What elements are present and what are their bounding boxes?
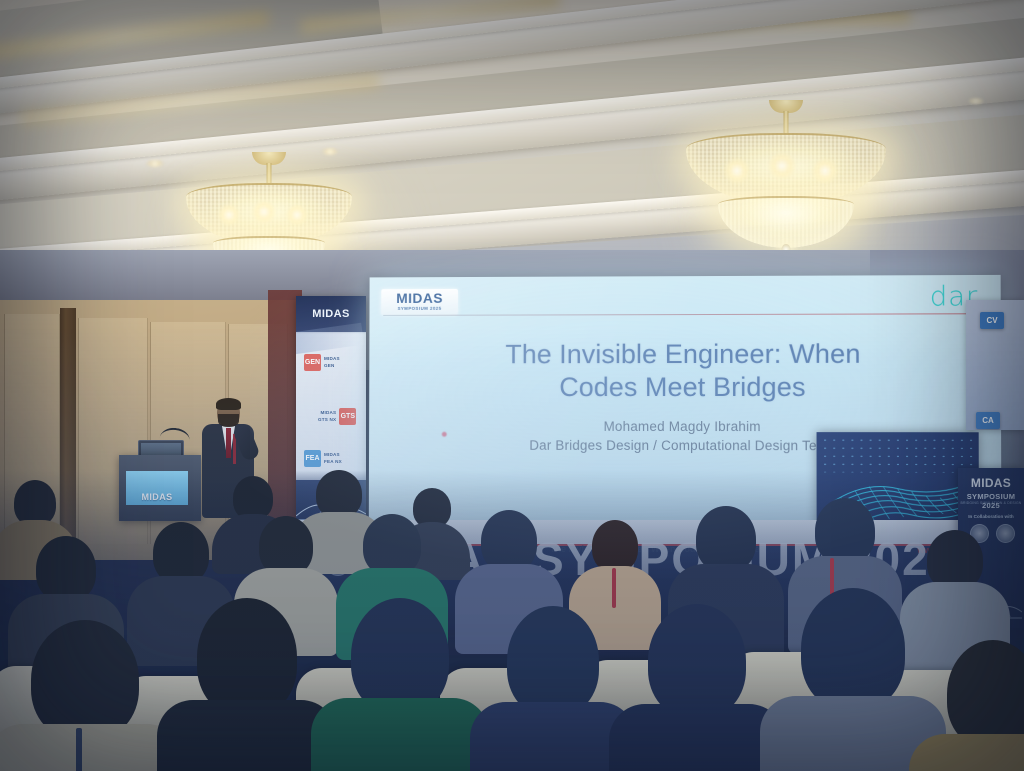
chandelier-bulb [252,200,276,224]
chandelier-right [686,100,886,260]
audience-lanyard [612,568,616,608]
audience-member-front [928,640,1024,771]
presenter-hair [216,398,241,410]
chandelier-bulb [768,152,796,180]
slide-title-line2: Codes Meet Bridges [369,371,1001,404]
audience-member-front [10,620,160,771]
banner-left-brand: MIDAS [312,308,349,320]
chandelier-bulb [724,158,750,184]
chip-ca: CA [976,412,1000,429]
audience-torso [311,698,489,771]
presenter-beard [218,414,239,427]
audience-torso [909,734,1024,771]
slide-logo-midas-text: MIDAS [396,291,443,305]
chip-fea: FEA [304,450,321,467]
banner-right-products: CV CA [966,300,1024,430]
audience-head [363,514,421,576]
audience-head [927,530,983,590]
audience-head [947,640,1024,748]
audience-head [801,588,905,710]
slide-logo-midas-sub: SYMPOSIUM 2025 [398,305,442,312]
audience-head [259,516,313,576]
slide-logo-midas: MIDAS SYMPOSIUM 2025 [381,289,458,315]
chandelier-bulb [812,158,838,184]
audience-head [31,620,139,740]
audience-torso [157,700,337,771]
audience-torso [0,724,183,771]
product-label-fea: MIDAS FEA NX [324,452,342,464]
audience-head [36,536,96,602]
product-badge-gen: GEN MIDAS GEN [304,354,340,371]
chandelier-rod [784,111,789,135]
slide-accent-dot-icon [442,432,447,437]
audience-member-front [488,606,618,771]
audience-head [197,598,297,716]
audience-head [507,606,599,716]
audience-head [351,598,449,714]
product-label-gts: MIDAS GTS NX [318,410,336,422]
chip-gts: GTS [339,408,356,425]
slide-title: The Invisible Engineer: When Codes Meet … [369,337,1001,403]
recessed-downlight [968,98,984,104]
presenter-tie [226,428,231,458]
slide-title-line1: The Invisible Engineer: When [369,337,1001,371]
audience-head [815,498,875,564]
audience-member-front [330,598,470,771]
conference-photo: MIDAS GEN MIDAS GEN MIDAS GTS NX GTS FEA… [0,0,1024,771]
audience-head [592,520,638,572]
audience-area [0,470,1024,771]
chandelier-bulb [218,204,240,226]
audience-head [481,510,537,572]
slide-divider [383,313,990,316]
chip-gen: GEN [304,354,321,371]
chandelier-rod [267,163,272,185]
audience-torso [609,704,785,771]
audience-member-front [780,588,926,771]
chandelier-bulb [286,204,308,226]
audience-head [696,506,756,572]
audience-head [648,604,746,718]
product-badge-gts: MIDAS GTS NX GTS [318,408,356,425]
chandelier-lower-tier [718,196,854,248]
audience-member-front [176,598,318,771]
chip-cv: CV [980,312,1004,329]
product-badge-fea: FEA MIDAS FEA NX [304,450,342,467]
audience-lanyard [76,728,82,771]
audience-member-front [628,604,766,771]
recessed-downlight [146,160,164,167]
audience-head [153,522,209,584]
product-label-gen: MIDAS GEN [324,356,340,368]
audience-head [316,470,362,518]
